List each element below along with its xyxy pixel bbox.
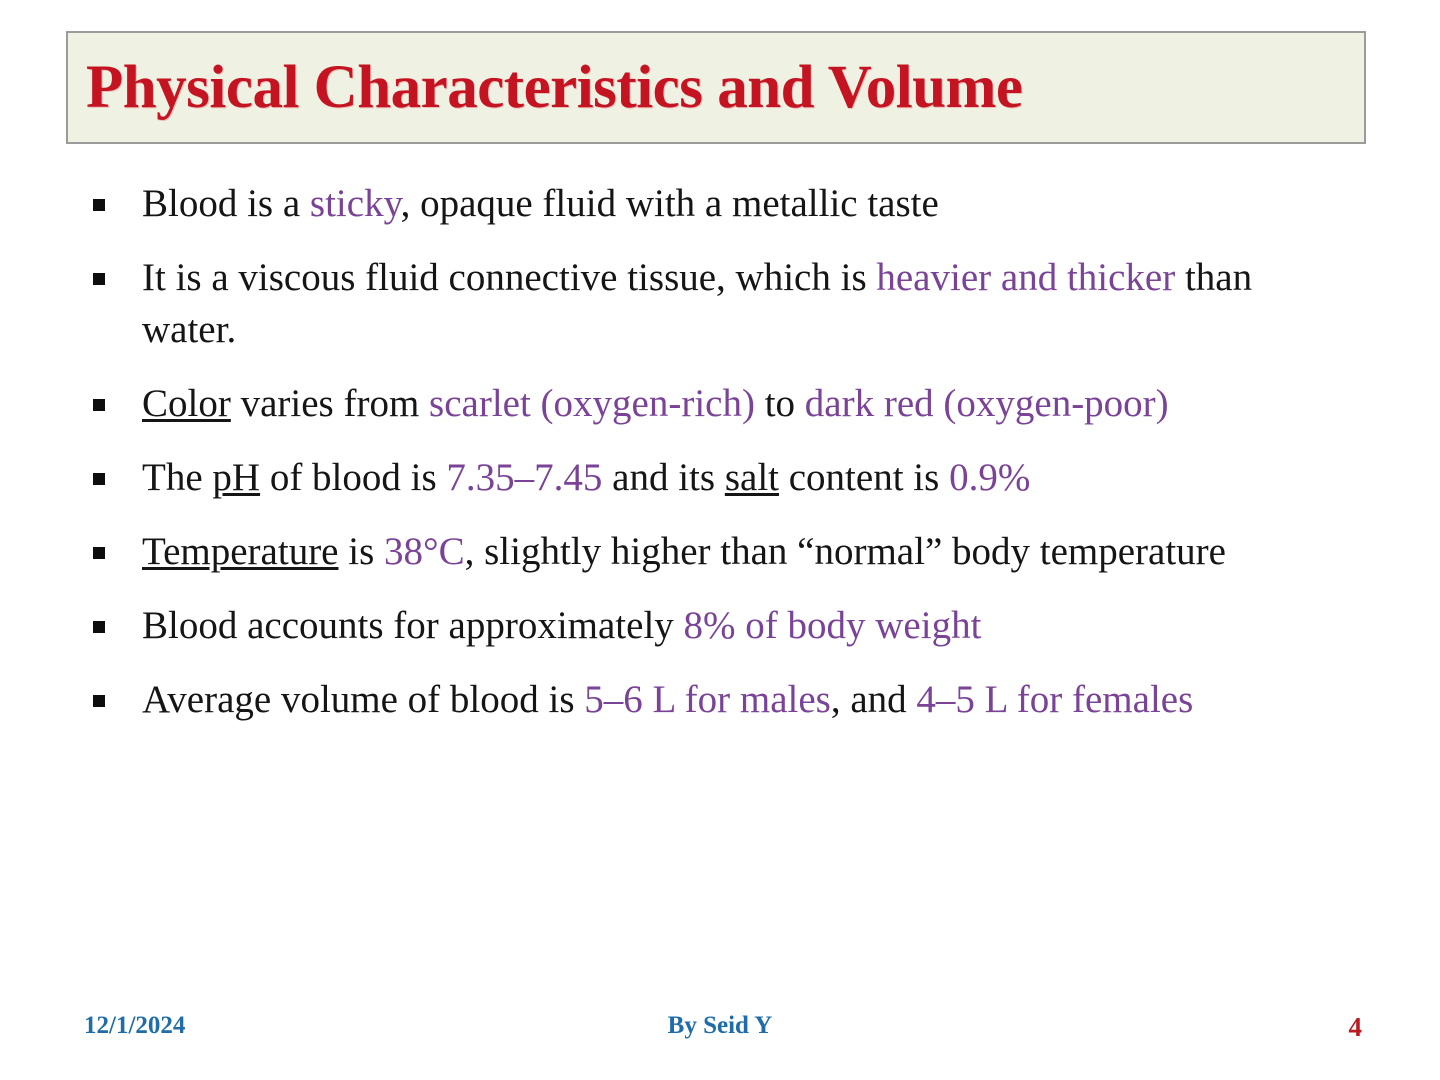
list-item-text: Blood is a sticky, opaque fluid with a m…: [142, 178, 1346, 230]
text-run: sticky: [310, 182, 401, 225]
list-item: Temperature is 38°C, slightly higher tha…: [86, 526, 1346, 578]
text-run: , and: [831, 678, 917, 721]
text-run: scarlet (oxygen-rich): [429, 382, 755, 425]
bullet-square-icon: [93, 399, 105, 411]
text-run: 7.35–7.45: [446, 456, 602, 499]
text-run: The: [142, 456, 212, 499]
text-run: 38°C: [384, 530, 465, 573]
text-run: content is: [779, 456, 949, 499]
text-run: varies from: [231, 382, 429, 425]
text-run: and its: [602, 456, 724, 499]
list-item-text: Color varies from scarlet (oxygen-rich) …: [142, 378, 1346, 430]
text-run: to: [755, 382, 805, 425]
bullet-square-icon: [93, 695, 105, 707]
text-run: , slightly higher than “normal” body tem…: [465, 530, 1226, 573]
text-run: Blood accounts for approximately: [142, 604, 684, 647]
list-item-text: It is a viscous fluid connective tissue,…: [142, 252, 1346, 356]
text-run: 5–6 L for males: [584, 678, 831, 721]
list-item-text: Temperature is 38°C, slightly higher tha…: [142, 526, 1346, 578]
list-item: Color varies from scarlet (oxygen-rich) …: [86, 378, 1346, 430]
slide-title-box: Physical Characteristics and Volume: [66, 31, 1366, 144]
list-item: Average volume of blood is 5–6 L for mal…: [86, 674, 1346, 726]
list-item: The pH of blood is 7.35–7.45 and its sal…: [86, 452, 1346, 504]
text-run: heavier and thicker: [876, 256, 1175, 299]
bullet-square-icon: [93, 473, 105, 485]
page-title: Physical Characteristics and Volume: [86, 55, 1022, 119]
text-run: of blood is: [260, 456, 446, 499]
list-item-text: Average volume of blood is 5–6 L for mal…: [142, 674, 1346, 726]
text-run: It is a viscous fluid connective tissue,…: [142, 256, 876, 299]
text-run: , opaque fluid with a metallic taste: [401, 182, 939, 225]
bullet-square-icon: [93, 199, 105, 211]
slide-body-content: Blood is a sticky, opaque fluid with a m…: [86, 178, 1346, 726]
text-run: 0.9%: [949, 456, 1030, 499]
list-item-text: The pH of blood is 7.35–7.45 and its sal…: [142, 452, 1346, 504]
slide-number: 4: [1349, 1012, 1363, 1043]
text-run: Color: [142, 382, 231, 425]
footer-author: By Seid Y: [0, 1012, 1440, 1040]
slide-canvas: Physical Characteristics and Volume Bloo…: [0, 0, 1440, 1080]
slide-footer: 12/1/2024 By Seid Y 4: [0, 1012, 1440, 1056]
bullet-square-icon: [93, 273, 105, 285]
bullet-square-icon: [93, 547, 105, 559]
text-run: 4–5 L for females: [916, 678, 1193, 721]
text-run: dark red (oxygen-poor): [805, 382, 1169, 425]
text-run: salt: [725, 456, 779, 499]
list-item: Blood is a sticky, opaque fluid with a m…: [86, 178, 1346, 230]
text-run: Blood is a: [142, 182, 310, 225]
text-run: is: [339, 530, 385, 573]
text-run: 8% of body weight: [684, 604, 982, 647]
text-run: Temperature: [142, 530, 339, 573]
text-run: Average volume of blood is: [142, 678, 584, 721]
text-run: pH: [212, 456, 260, 499]
list-item-text: Blood accounts for approximately 8% of b…: [142, 600, 1346, 652]
list-item: It is a viscous fluid connective tissue,…: [86, 252, 1346, 356]
bullet-square-icon: [93, 621, 105, 633]
list-item: Blood accounts for approximately 8% of b…: [86, 600, 1346, 652]
